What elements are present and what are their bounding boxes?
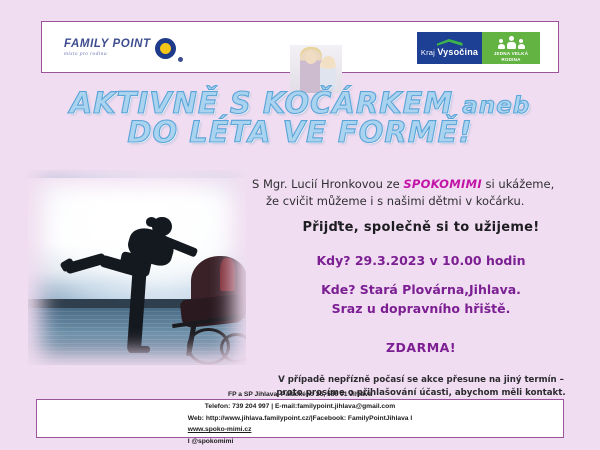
jvr-label: JEDNA VELKÁ RODINA: [494, 51, 528, 62]
footer-web-social: Web: http://www.jihlava.familypoint.cz/|…: [188, 413, 412, 448]
event-when: Kdy? 29.3.2023 v 10.00 hodin: [252, 252, 590, 270]
intro-after: si ukážeme,: [482, 177, 554, 191]
family-point-subtitle: místo pro rodinu: [64, 52, 151, 58]
intro-line-1: S Mgr. Lucií Hronkovou ze SPOKOMIMI si u…: [252, 176, 590, 193]
poster-text-column: S Mgr. Lucií Hronkovou ze SPOKOMIMI si u…: [252, 176, 590, 400]
footer-phone-email: Telefon: 739 204 997 | E-mail:familypoin…: [205, 401, 395, 413]
kraj-vysocina-logo: Kraj Vysočina: [417, 32, 482, 64]
cta-text: Přijďte, společně si to užijeme!: [252, 220, 590, 235]
spokomimi-brand: SPOKOMIMI: [403, 177, 482, 191]
family-point-logo: FAMILY POINT místo pro rodinu: [64, 33, 184, 63]
intro-paragraph: S Mgr. Lucií Hronkovou ze SPOKOMIMI si u…: [252, 176, 590, 209]
event-where-line-1: Kde? Stará Plovárna,Jihlava.: [252, 281, 590, 299]
kraj-prefix: Kraj: [421, 48, 437, 57]
family-point-wordmark: FAMILY POINT místo pro rodinu: [64, 39, 151, 58]
small-dot-icon: [178, 57, 183, 62]
family-group-icon: [497, 36, 526, 49]
poster-canvas: FAMILY POINT místo pro rodinu Kraj Vysoč…: [0, 0, 600, 450]
photo-face: [305, 51, 317, 64]
footer-instagram: I @spokomimi: [188, 436, 412, 448]
intro-line-2: že cvičit můžeme i s našimi dětmi v kočá…: [252, 193, 590, 210]
kraj-vysocina-label: Kraj Vysočina: [421, 47, 478, 57]
stroller-workout-photo: [28, 170, 246, 365]
event-where-line-2: Sraz u dopravního hřiště.: [252, 300, 590, 318]
footer-web: Web: http://www.jihlava.familypoint.cz/|…: [188, 413, 412, 425]
headline-line-2: DO LÉTA VE FORMĚ!: [0, 117, 600, 148]
family-point-title: FAMILY POINT: [64, 39, 151, 51]
event-price: ZDARMA!: [252, 339, 590, 357]
circle-dot-logo-icon: [155, 38, 176, 59]
photo-baby-head: [322, 56, 335, 69]
jedna-velka-rodina-logo: JEDNA VELKÁ RODINA: [482, 32, 540, 64]
poster-headline: AKTIVNĚ S KOČÁRKEM aneb DO LÉTA VE FORMĚ…: [0, 88, 600, 149]
footer-contact-box: FP a SP Jihlava, Palackého 26, 586 01 Ji…: [36, 399, 564, 438]
jvr-line1: JEDNA VELKÁ: [494, 51, 528, 57]
header-logo-bar: FAMILY POINT místo pro rodinu Kraj Vysoč…: [41, 21, 559, 73]
jvr-line2: RODINA: [494, 57, 528, 63]
event-details: Kdy? 29.3.2023 v 10.00 hodin Kde? Stará …: [252, 252, 590, 357]
weather-note-line-1: V případě nepřízně počasí se akce přesun…: [252, 374, 590, 387]
footer-address: FP a SP Jihlava, Palackého 26, 586 01 Ji…: [228, 389, 372, 401]
spoko-mimi-link[interactable]: www.spoko-mimi.cz: [188, 426, 252, 433]
green-swoosh-icon: [437, 39, 463, 46]
stroller-silhouette: [163, 256, 246, 365]
kraj-name: Vysočina: [437, 47, 478, 57]
sponsor-logos: Kraj Vysočina JEDNA VELKÁ RODINA: [417, 32, 540, 64]
intro-before: S Mgr. Lucií Hronkovou ze: [252, 177, 403, 191]
